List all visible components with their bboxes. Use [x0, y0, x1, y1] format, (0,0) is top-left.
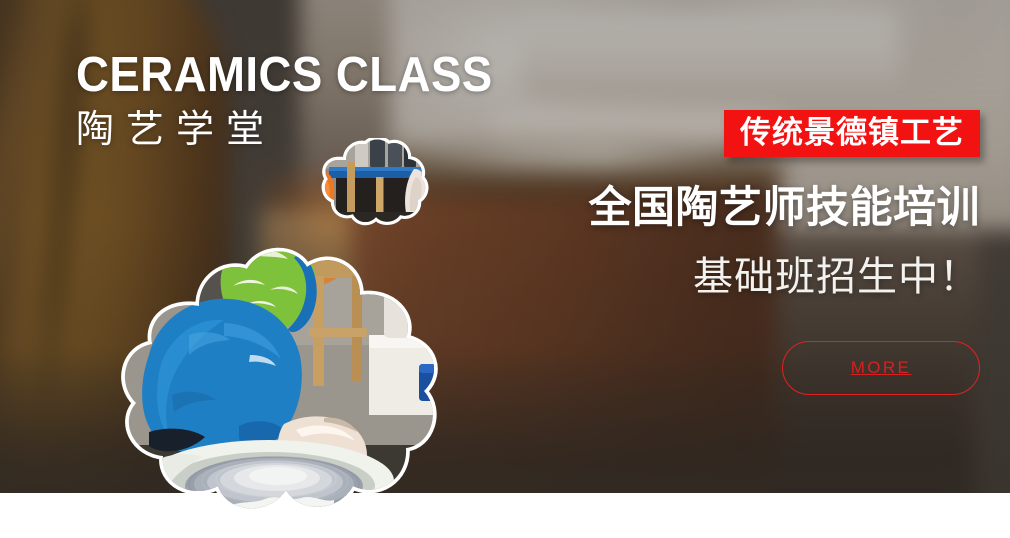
subheadline: 基础班招生中！: [560, 257, 980, 297]
title-english: CERAMICS CLASS: [76, 51, 493, 100]
right-content-column: 传统景德镇工艺 全国陶艺师技能培训 基础班招生中！ MORE: [560, 110, 980, 395]
ceramics-class-banner: CERAMICS CLASS 陶艺学堂: [0, 0, 1010, 538]
cloud-frame-icon: [74, 230, 544, 525]
more-button[interactable]: MORE: [782, 341, 980, 395]
headline: 全国陶艺师技能培训: [560, 187, 980, 230]
title-chinese: 陶艺学堂: [76, 111, 524, 149]
cloud-thumbnail-icon: [316, 138, 434, 226]
title-block: CERAMICS CLASS 陶艺学堂: [76, 51, 524, 149]
more-button-row: MORE: [560, 341, 980, 395]
status-badge: 传统景德镇工艺: [724, 110, 980, 157]
